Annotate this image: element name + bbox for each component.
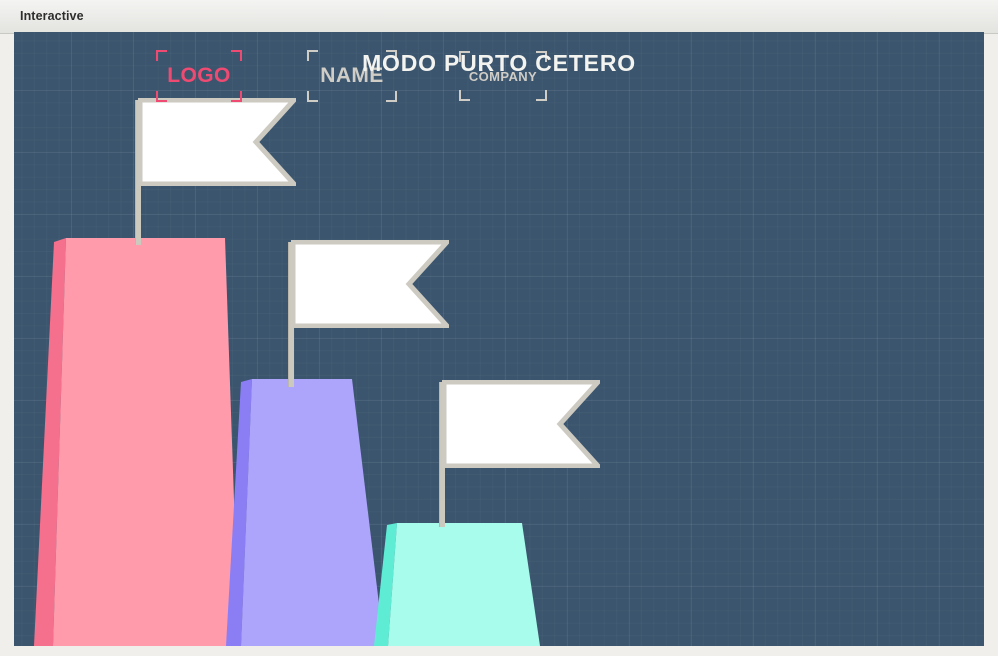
bar-logo[interactable] — [34, 238, 239, 646]
bar-logo-face — [53, 238, 239, 646]
chart-canvas: MODO PURTO CETERO — [14, 32, 984, 646]
bar-company-face — [388, 523, 540, 646]
chart-title: MODO PURTO CETERO — [14, 50, 984, 77]
bar-name-face — [241, 379, 384, 646]
app-root: Interactive MODO PURTO CETERO — [0, 0, 998, 656]
flag-banner-logo[interactable] — [138, 98, 296, 186]
tab-bar: Interactive — [0, 0, 998, 34]
bar-company[interactable] — [374, 523, 540, 646]
flag-shape-logo — [138, 98, 296, 186]
flag-shape-name — [291, 240, 449, 328]
flag-shape-company — [442, 380, 600, 468]
bar-name[interactable] — [226, 379, 384, 646]
tab-interactive[interactable]: Interactive — [8, 5, 96, 29]
flag-banner-name[interactable] — [291, 240, 449, 328]
flag-banner-company[interactable] — [442, 380, 600, 468]
